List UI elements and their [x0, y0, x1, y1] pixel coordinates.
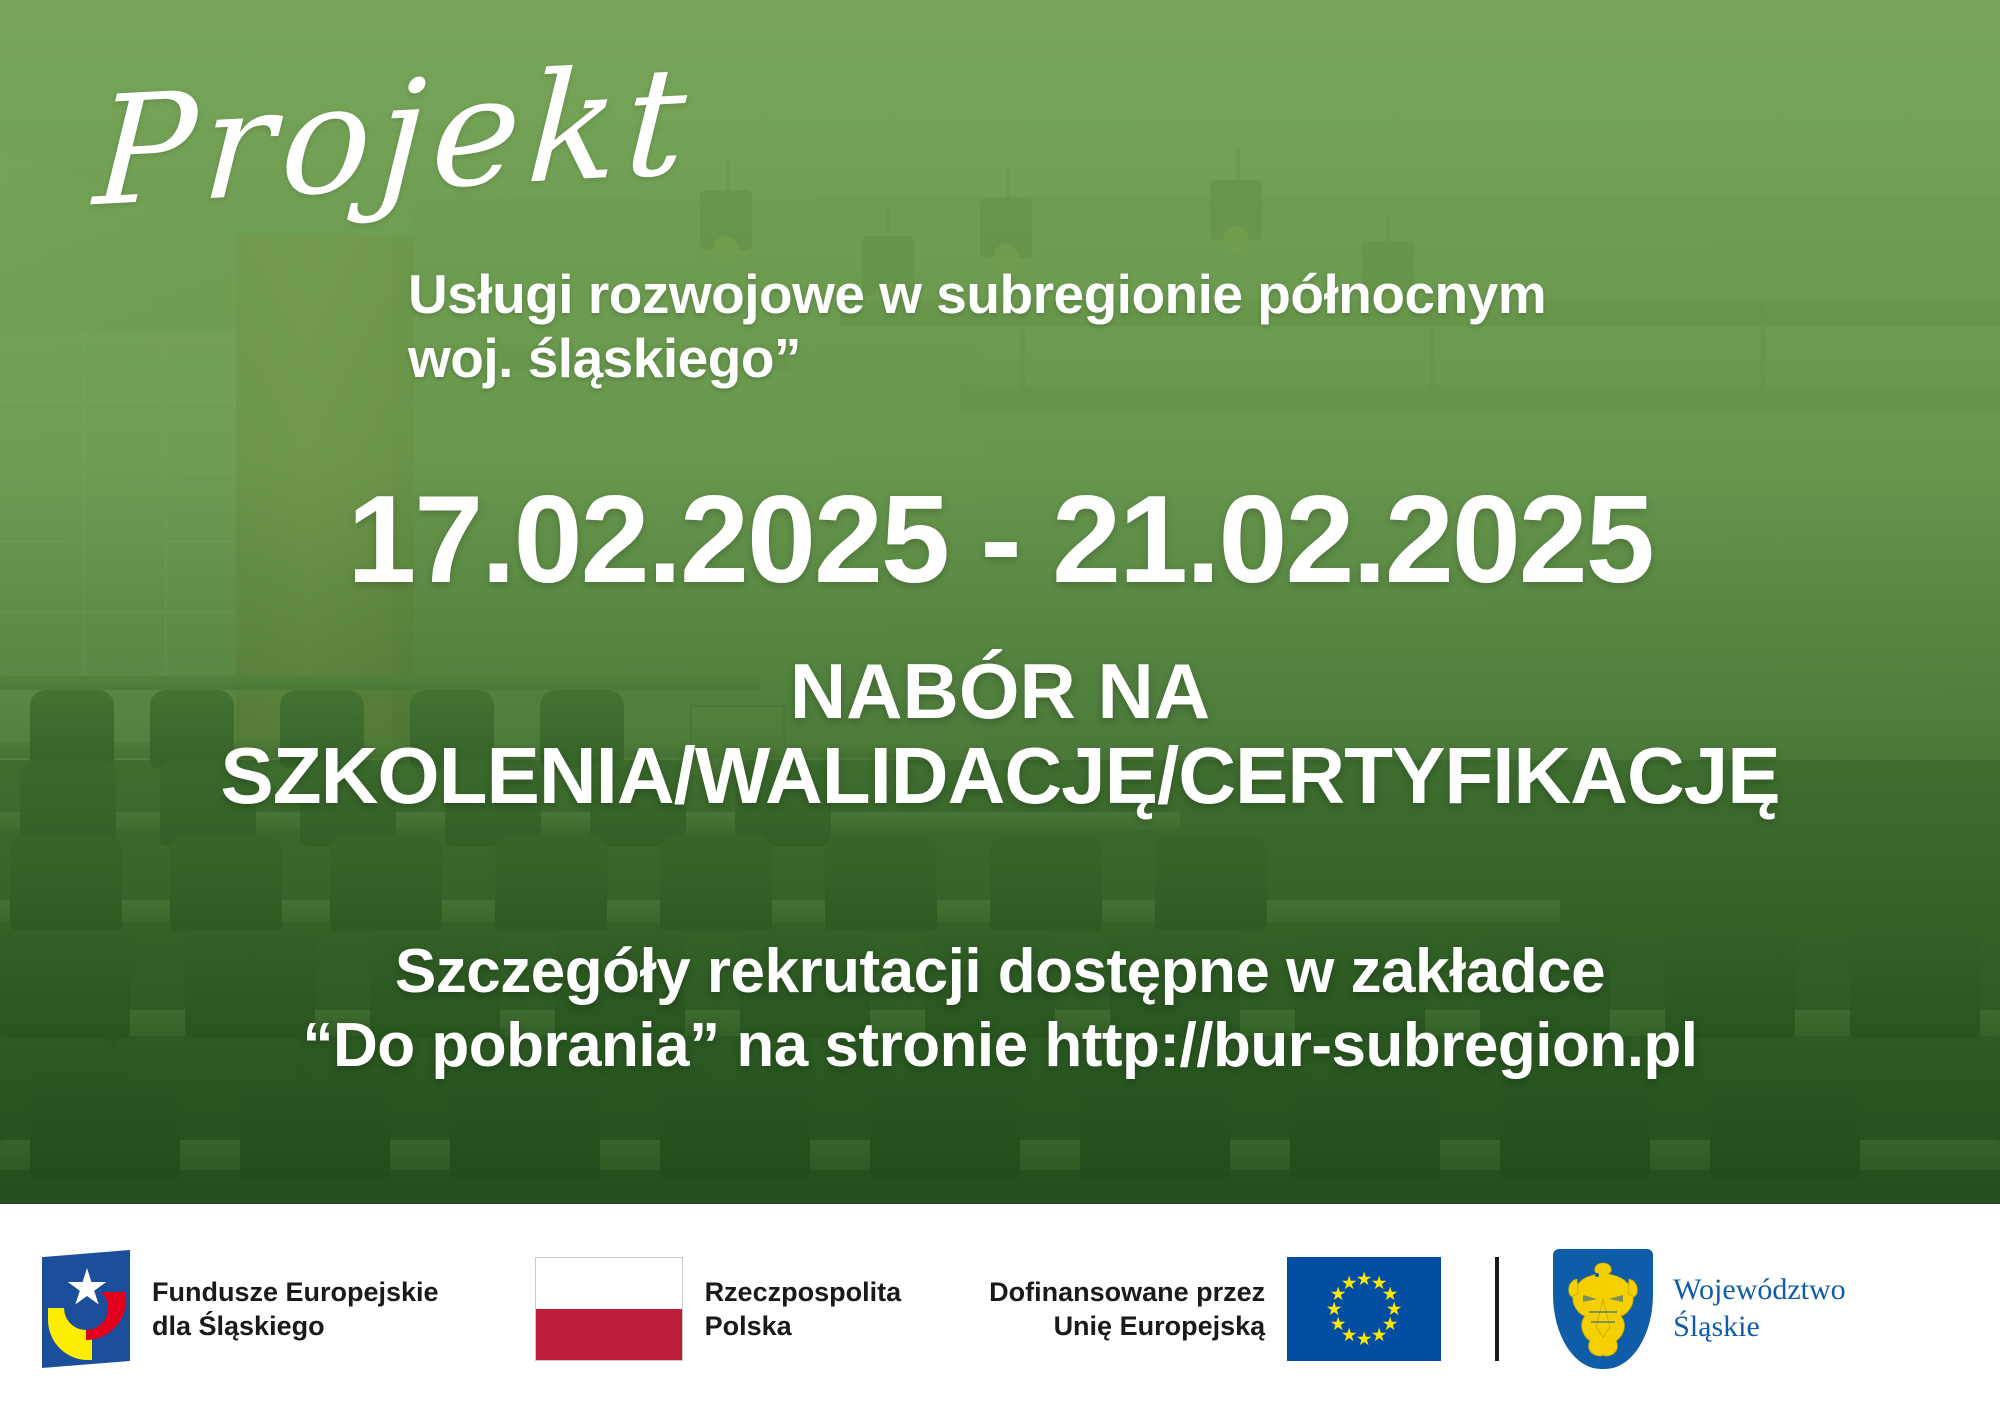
logo-rzeczpospolita-polska: Rzeczpospolita Polska: [535, 1257, 902, 1361]
logo-fundusze-europejskie: Fundusze Europejskie dla Śląskiego: [42, 1250, 439, 1368]
eu-star-icon: [1342, 1327, 1357, 1342]
eu-star-icon: [1327, 1302, 1342, 1317]
eu-star-icon: [1383, 1317, 1398, 1332]
logo-wojewodztwo-slaskie: Województwo Śląskie: [1553, 1249, 1846, 1369]
eu-star-icon: [1342, 1276, 1357, 1291]
rzeczpospolita-line-2: Polska: [705, 1309, 902, 1343]
promo-poster: Projekt Usługi rozwojowe w subregionie p…: [0, 0, 2000, 1414]
eu-star-icon: [1387, 1302, 1402, 1317]
call-for-applications-heading: NABÓR NA SZKOLENIA/WALIDACJĘ/CERTYFIKACJ…: [0, 650, 2000, 819]
fundusze-line-1: Fundusze Europejskie: [152, 1275, 439, 1309]
project-script-heading: Projekt: [91, 46, 696, 228]
rzeczpospolita-line-1: Rzeczpospolita: [705, 1275, 902, 1309]
poster-content: Projekt Usługi rozwojowe w subregionie p…: [0, 0, 2000, 1204]
eu-star-icon: [1372, 1327, 1387, 1342]
date-range: 17.02.2025 - 21.02.2025: [0, 478, 2000, 602]
eu-star-icon: [1357, 1272, 1372, 1287]
polish-flag-icon: [535, 1257, 683, 1361]
footer-divider: [1495, 1257, 1499, 1361]
logo-fundusze-europejskie-text: Fundusze Europejskie dla Śląskiego: [152, 1275, 439, 1343]
fundusze-europejskie-icon: [42, 1250, 130, 1368]
call-line-2: SZKOLENIA/WALIDACJĘ/CERTYFIKACJĘ: [0, 733, 2000, 819]
unia-line-2: Unię Europejską: [989, 1309, 1265, 1343]
eu-star-icon: [1357, 1332, 1372, 1347]
logo-rzeczpospolita-text: Rzeczpospolita Polska: [705, 1275, 902, 1343]
subtitle-line-2: woj. śląskiego”: [408, 326, 1838, 390]
logo-unia-europejska: Dofinansowane przez Unię Europejską: [989, 1257, 1441, 1361]
details-line-1: Szczegóły rekrutacji dostępne w zakładce: [0, 935, 2000, 1009]
eu-star-icon: [1331, 1287, 1346, 1302]
recruitment-details: Szczegóły rekrutacji dostępne w zakładce…: [0, 935, 2000, 1084]
logo-unia-europejska-text: Dofinansowane przez Unię Europejską: [989, 1275, 1265, 1343]
eu-star-icon: [1383, 1287, 1398, 1302]
wojewodztwo-line-1: Województwo: [1673, 1272, 1846, 1309]
eu-star-icon: [1372, 1276, 1387, 1291]
eu-flag-icon: [1287, 1257, 1441, 1361]
project-subtitle: Usługi rozwojowe w subregionie północnym…: [408, 262, 1838, 391]
silesian-coat-of-arms-icon: [1553, 1249, 1653, 1369]
details-line-2: “Do pobrania” na stronie http://bur-subr…: [0, 1009, 2000, 1083]
eu-star-icon: [1331, 1317, 1346, 1332]
logo-wojewodztwo-slaskie-text: Województwo Śląskie: [1673, 1272, 1846, 1345]
call-line-1: NABÓR NA: [790, 647, 1210, 735]
wojewodztwo-line-2: Śląskie: [1673, 1309, 1846, 1346]
fundusze-line-2: dla Śląskiego: [152, 1309, 439, 1343]
funding-logos-footer: Fundusze Europejskie dla Śląskiego Rzecz…: [0, 1204, 2000, 1414]
subtitle-line-1: Usługi rozwojowe w subregionie północnym: [408, 262, 1838, 326]
unia-line-1: Dofinansowane przez: [989, 1275, 1265, 1309]
